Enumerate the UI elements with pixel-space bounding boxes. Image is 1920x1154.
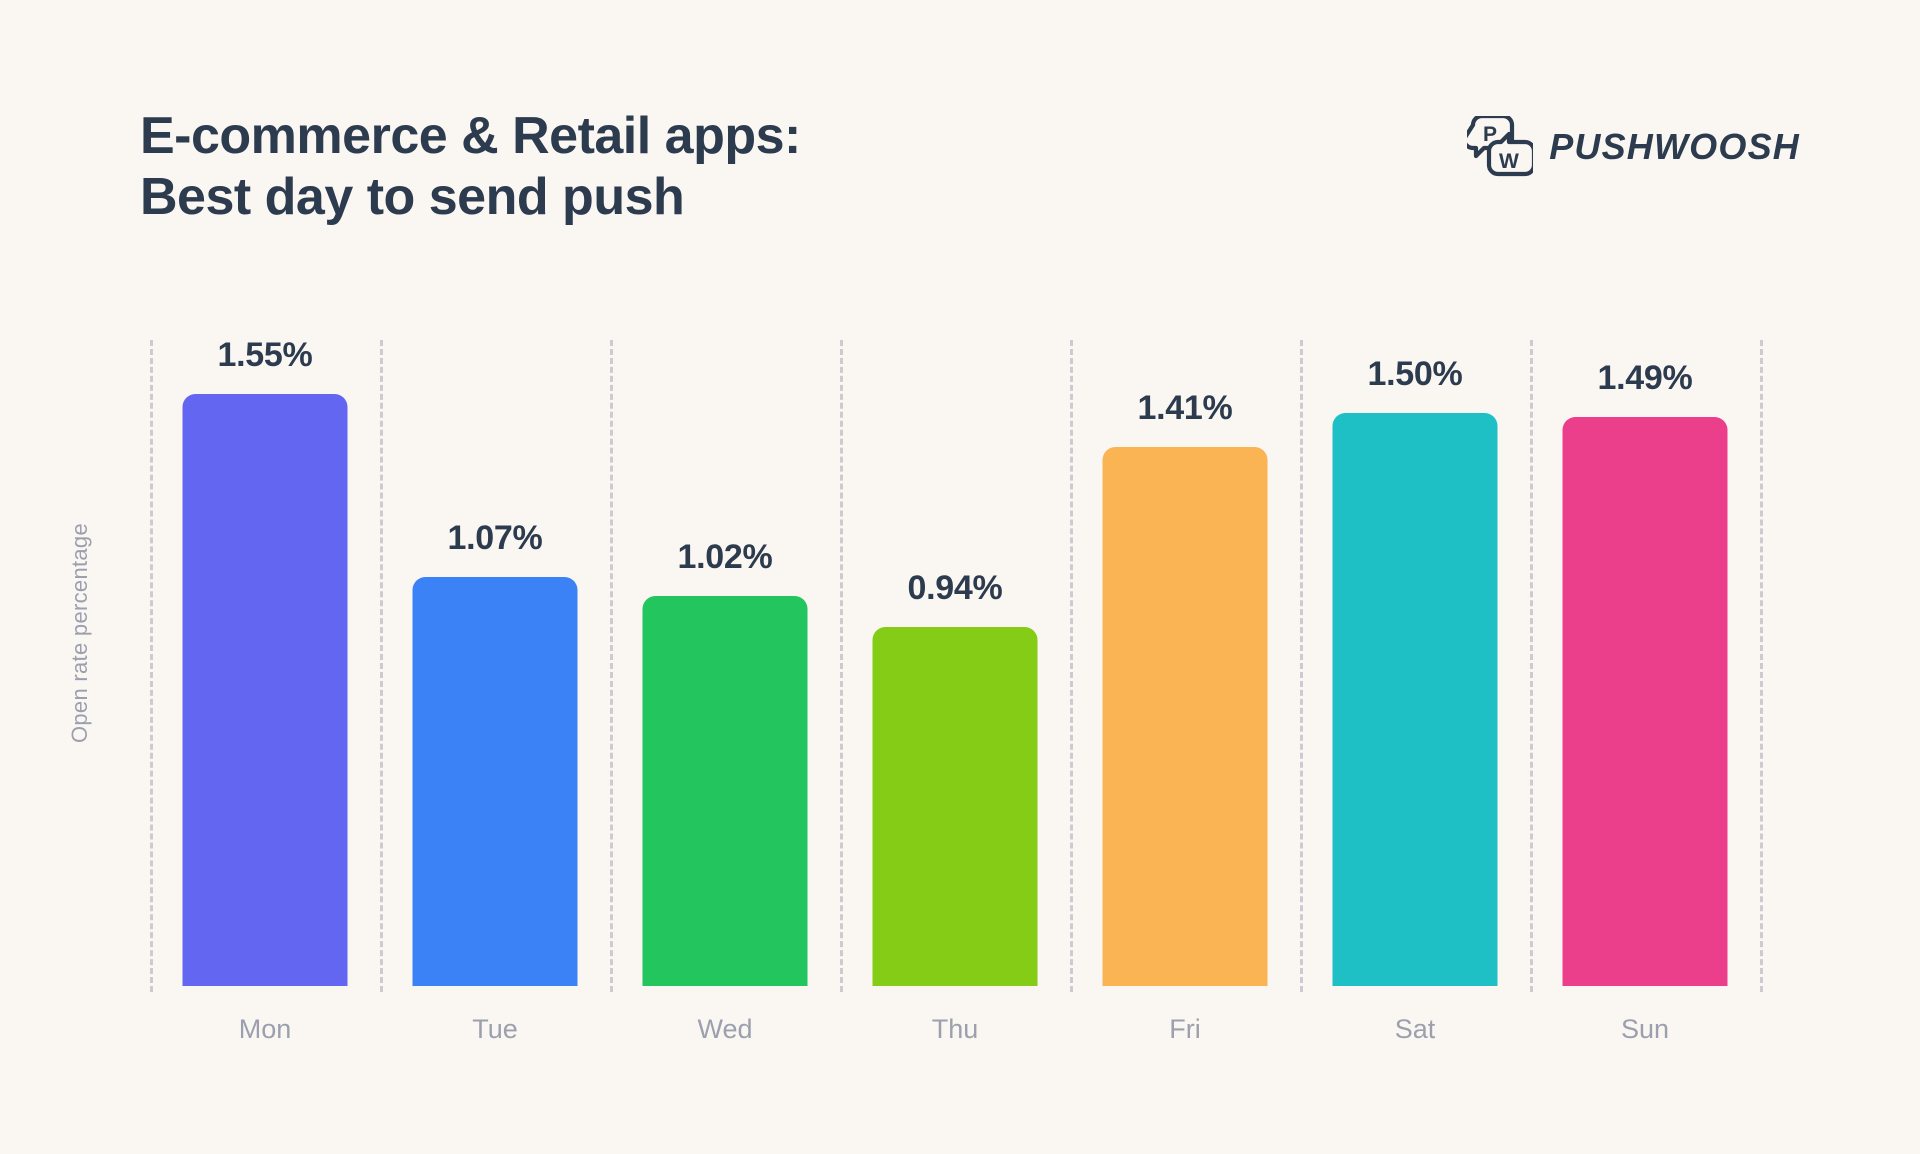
bar-value-fri: 1.41% <box>1138 389 1233 428</box>
bar-wed[interactable] <box>643 596 808 986</box>
x-axis-label-tue: Tue <box>472 1014 518 1045</box>
bar-group[interactable]: 1.49%Sun <box>1530 0 1760 1154</box>
bar-value-thu: 0.94% <box>908 569 1003 608</box>
bar-sat[interactable] <box>1333 413 1498 986</box>
bar-value-sat: 1.50% <box>1368 355 1463 394</box>
bar-group[interactable]: 1.41%Fri <box>1070 0 1300 1154</box>
bar-value-wed: 1.02% <box>678 538 773 577</box>
bar-group[interactable]: 1.07%Tue <box>380 0 610 1154</box>
bar-chart: Open rate percentage 1.55%Mon1.07%Tue1.0… <box>0 0 1920 1154</box>
x-axis-label-sat: Sat <box>1395 1014 1436 1045</box>
x-axis-label-sun: Sun <box>1621 1014 1669 1045</box>
bar-series: 1.55%Mon1.07%Tue1.02%Wed0.94%Thu1.41%Fri… <box>0 0 1920 1154</box>
bar-mon[interactable] <box>183 394 348 986</box>
bar-group[interactable]: 1.50%Sat <box>1300 0 1530 1154</box>
bar-tue[interactable] <box>413 577 578 986</box>
bar-sun[interactable] <box>1563 417 1728 986</box>
bar-value-mon: 1.55% <box>218 336 313 375</box>
bar-fri[interactable] <box>1103 447 1268 986</box>
x-axis-label-thu: Thu <box>932 1014 979 1045</box>
x-axis-label-fri: Fri <box>1169 1014 1200 1045</box>
bar-value-sun: 1.49% <box>1598 359 1693 398</box>
x-axis-label-wed: Wed <box>697 1014 752 1045</box>
bar-group[interactable]: 0.94%Thu <box>840 0 1070 1154</box>
bar-value-tue: 1.07% <box>448 519 543 558</box>
bar-group[interactable]: 1.02%Wed <box>610 0 840 1154</box>
x-axis-label-mon: Mon <box>239 1014 292 1045</box>
bar-thu[interactable] <box>873 627 1038 986</box>
bar-group[interactable]: 1.55%Mon <box>150 0 380 1154</box>
